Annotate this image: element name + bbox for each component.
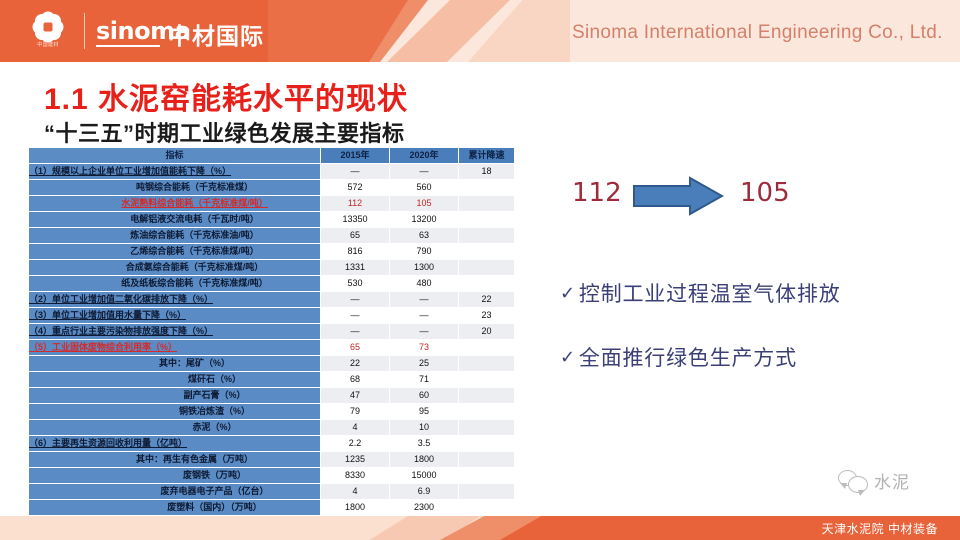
right-arrow-icon xyxy=(632,176,724,216)
row-cumulative-rate xyxy=(459,356,515,372)
bullet-item: ✓控制工业过程温室气体排放 xyxy=(560,278,950,308)
row-cumulative-rate xyxy=(459,420,515,436)
row-value-2015: 530 xyxy=(321,276,390,292)
table-row: 吨钢综合能耗（千克标准煤）572560 xyxy=(29,180,515,196)
table-row: （5）工业固体废物综合利用率（%）6573 xyxy=(29,340,515,356)
row-cumulative-rate xyxy=(459,340,515,356)
table-row: （6）主要再生资源回收利用量（亿吨）2.23.5 xyxy=(29,436,515,452)
row-cumulative-rate xyxy=(459,452,515,468)
row-value-2020: 73 xyxy=(390,340,459,356)
check-icon: ✓ xyxy=(560,283,576,304)
row-label: 其中：再生有色金属（万吨） xyxy=(29,452,321,468)
indicators-table: 指标 2015年 2020年 累计降速 （1）规模以上企业单位工业增加值能耗下降… xyxy=(28,147,515,540)
row-value-2015: — xyxy=(321,308,390,324)
row-value-2015: 1800 xyxy=(321,500,390,516)
row-value-2020: 63 xyxy=(390,228,459,244)
row-value-2020: 10 xyxy=(390,420,459,436)
row-value-2015: 65 xyxy=(321,228,390,244)
row-value-2015: 65 xyxy=(321,340,390,356)
page-title: 1.1 水泥窑能耗水平的现状 xyxy=(44,74,408,118)
row-cumulative-rate xyxy=(459,468,515,484)
table-row: 合成氨综合能耗（千克标准煤/吨）13311300 xyxy=(29,260,515,276)
row-value-2015: 13350 xyxy=(321,212,390,228)
row-label: （4）重点行业主要污染物排放强度下降（%） xyxy=(29,324,321,340)
row-label: 废弃电器电子产品（亿台） xyxy=(29,484,321,500)
row-label: （6）主要再生资源回收利用量（亿吨） xyxy=(29,436,321,452)
gear-icon xyxy=(35,14,61,40)
row-label: 铜铁冶炼渣（%） xyxy=(29,404,321,420)
row-value-2015: 4 xyxy=(321,484,390,500)
watermark-label: 水泥 xyxy=(874,468,910,493)
wechat-icon xyxy=(838,470,868,492)
column-header-2020: 2020年 xyxy=(390,148,459,164)
row-label: 赤泥（%） xyxy=(29,420,321,436)
row-cumulative-rate xyxy=(459,260,515,276)
table-row: （1）规模以上企业单位工业增加值能耗下降（%）——18 xyxy=(29,164,515,180)
brand-chinese-name: 中材国际 xyxy=(168,17,264,51)
column-header-indicator: 指标 xyxy=(29,148,321,164)
row-cumulative-rate: 18 xyxy=(459,164,515,180)
row-label: 乙烯综合能耗（千克标准煤/吨） xyxy=(29,244,321,260)
callout-value-from: 112 xyxy=(572,178,622,208)
row-label: 副产石膏（%） xyxy=(29,388,321,404)
row-value-2020: 1800 xyxy=(390,452,459,468)
row-cumulative-rate xyxy=(459,388,515,404)
row-value-2020: 105 xyxy=(390,196,459,212)
slide-footer: 天津水泥院 中材装备 xyxy=(0,516,960,540)
row-value-2020: 95 xyxy=(390,404,459,420)
table-row: （2）单位工业增加值二氧化碳排放下降（%）——22 xyxy=(29,292,515,308)
table-row: （4）重点行业主要污染物排放强度下降（%）——20 xyxy=(29,324,515,340)
column-header-2015: 2015年 xyxy=(321,148,390,164)
row-label: （3）单位工业增加值用水量下降（%） xyxy=(29,308,321,324)
row-value-2015: 1331 xyxy=(321,260,390,276)
page-subtitle: “十三五”时期工业绿色发展主要指标 xyxy=(44,116,405,148)
row-value-2020: — xyxy=(390,308,459,324)
table-row: 水泥熟料综合能耗（千克标准煤/吨）112105 xyxy=(29,196,515,212)
row-value-2015: 816 xyxy=(321,244,390,260)
table-row: 赤泥（%）410 xyxy=(29,420,515,436)
footer-label: 天津水泥院 中材装备 xyxy=(822,520,938,537)
row-label: 合成氨综合能耗（千克标准煤/吨） xyxy=(29,260,321,276)
row-label: 废钢铁（万吨） xyxy=(29,468,321,484)
row-value-2015: — xyxy=(321,292,390,308)
table-row: 电解铝液交流电耗（千瓦时/吨）1335013200 xyxy=(29,212,515,228)
indicators-table-wrapper: 指标 2015年 2020年 累计降速 （1）规模以上企业单位工业增加值能耗下降… xyxy=(28,147,514,540)
row-value-2020: — xyxy=(390,164,459,180)
bullet-item: ✓全面推行绿色生产方式 xyxy=(560,342,950,372)
table-row: 煤矸石（%）6871 xyxy=(29,372,515,388)
row-label: 电解铝液交流电耗（千瓦时/吨） xyxy=(29,212,321,228)
row-cumulative-rate xyxy=(459,372,515,388)
row-value-2020: 3.5 xyxy=(390,436,459,452)
row-value-2020: 480 xyxy=(390,276,459,292)
table-header-row: 指标 2015年 2020年 累计降速 xyxy=(29,148,515,164)
row-value-2015: 2.2 xyxy=(321,436,390,452)
table-row: 炼油综合能耗（千克标准油/吨）6563 xyxy=(29,228,515,244)
row-value-2015: 79 xyxy=(321,404,390,420)
row-value-2015: 112 xyxy=(321,196,390,212)
bullet-label: 控制工业过程温室气体排放 xyxy=(579,278,841,308)
row-label: 其中：尾矿（%） xyxy=(29,356,321,372)
brand-underline xyxy=(96,45,160,47)
row-value-2015: 68 xyxy=(321,372,390,388)
company-english-name: Sinoma International Engineering Co., Lt… xyxy=(572,22,943,44)
slide-header: 中国建材 sinoma 中材国际 Sinoma International En… xyxy=(0,0,960,62)
row-cumulative-rate: 22 xyxy=(459,292,515,308)
row-cumulative-rate xyxy=(459,276,515,292)
row-cumulative-rate xyxy=(459,436,515,452)
row-value-2020: 2300 xyxy=(390,500,459,516)
row-value-2015: 8330 xyxy=(321,468,390,484)
table-row: 副产石膏（%）4760 xyxy=(29,388,515,404)
row-label: 吨钢综合能耗（千克标准煤） xyxy=(29,180,321,196)
table-body: （1）规模以上企业单位工业增加值能耗下降（%）——18吨钢综合能耗（千克标准煤）… xyxy=(29,164,515,540)
sinoma-logo: 中国建材 xyxy=(28,11,68,51)
row-cumulative-rate xyxy=(459,180,515,196)
bullet-list: ✓控制工业过程温室气体排放✓全面推行绿色生产方式 xyxy=(560,278,950,406)
slide-canvas: 中国建材 sinoma 中材国际 Sinoma International En… xyxy=(0,0,960,540)
row-value-2015: 572 xyxy=(321,180,390,196)
table-row: 其中：再生有色金属（万吨）12351800 xyxy=(29,452,515,468)
row-value-2020: 6.9 xyxy=(390,484,459,500)
row-label: 煤矸石（%） xyxy=(29,372,321,388)
row-value-2015: 22 xyxy=(321,356,390,372)
column-header-cumulative-rate: 累计降速 xyxy=(459,148,515,164)
row-label: 水泥熟料综合能耗（千克标准煤/吨） xyxy=(29,196,321,212)
row-value-2015: 47 xyxy=(321,388,390,404)
table-row: 其中：尾矿（%）2225 xyxy=(29,356,515,372)
bullet-label: 全面推行绿色生产方式 xyxy=(579,342,797,372)
logo-divider xyxy=(84,13,85,49)
row-cumulative-rate xyxy=(459,228,515,244)
table-row: 乙烯综合能耗（千克标准煤/吨）816790 xyxy=(29,244,515,260)
row-value-2015: — xyxy=(321,164,390,180)
row-value-2015: — xyxy=(321,324,390,340)
row-label: （1）规模以上企业单位工业增加值能耗下降（%） xyxy=(29,164,321,180)
row-value-2015: 4 xyxy=(321,420,390,436)
row-value-2020: 25 xyxy=(390,356,459,372)
wechat-watermark: 水泥 xyxy=(838,468,910,493)
callout-arrow-group: 112 105 xyxy=(572,170,832,220)
row-label: 纸及纸板综合能耗（千克标准煤/吨） xyxy=(29,276,321,292)
table-row: 废钢铁（万吨）833015000 xyxy=(29,468,515,484)
row-value-2020: 71 xyxy=(390,372,459,388)
row-value-2015: 1235 xyxy=(321,452,390,468)
logo-sub-label: 中国建材 xyxy=(37,41,59,48)
row-cumulative-rate: 23 xyxy=(459,308,515,324)
row-cumulative-rate xyxy=(459,244,515,260)
row-value-2020: 13200 xyxy=(390,212,459,228)
row-cumulative-rate xyxy=(459,196,515,212)
row-value-2020: 60 xyxy=(390,388,459,404)
table-row: （3）单位工业增加值用水量下降（%）——23 xyxy=(29,308,515,324)
row-label: （5）工业固体废物综合利用率（%） xyxy=(29,340,321,356)
row-cumulative-rate: 20 xyxy=(459,324,515,340)
table-row: 废塑料（国内）（万吨）18002300 xyxy=(29,500,515,516)
row-cumulative-rate xyxy=(459,484,515,500)
table-row: 纸及纸板综合能耗（千克标准煤/吨）530480 xyxy=(29,276,515,292)
row-cumulative-rate xyxy=(459,404,515,420)
row-value-2020: — xyxy=(390,292,459,308)
row-value-2020: 790 xyxy=(390,244,459,260)
row-value-2020: — xyxy=(390,324,459,340)
row-cumulative-rate xyxy=(459,212,515,228)
row-value-2020: 560 xyxy=(390,180,459,196)
row-cumulative-rate xyxy=(459,500,515,516)
row-label: （2）单位工业增加值二氧化碳排放下降（%） xyxy=(29,292,321,308)
table-row: 废弃电器电子产品（亿台）46.9 xyxy=(29,484,515,500)
row-value-2020: 1300 xyxy=(390,260,459,276)
table-row: 铜铁冶炼渣（%）7995 xyxy=(29,404,515,420)
check-icon: ✓ xyxy=(560,347,576,368)
row-label: 废塑料（国内）（万吨） xyxy=(29,500,321,516)
callout-value-to: 105 xyxy=(740,178,790,208)
row-label: 炼油综合能耗（千克标准油/吨） xyxy=(29,228,321,244)
row-value-2020: 15000 xyxy=(390,468,459,484)
